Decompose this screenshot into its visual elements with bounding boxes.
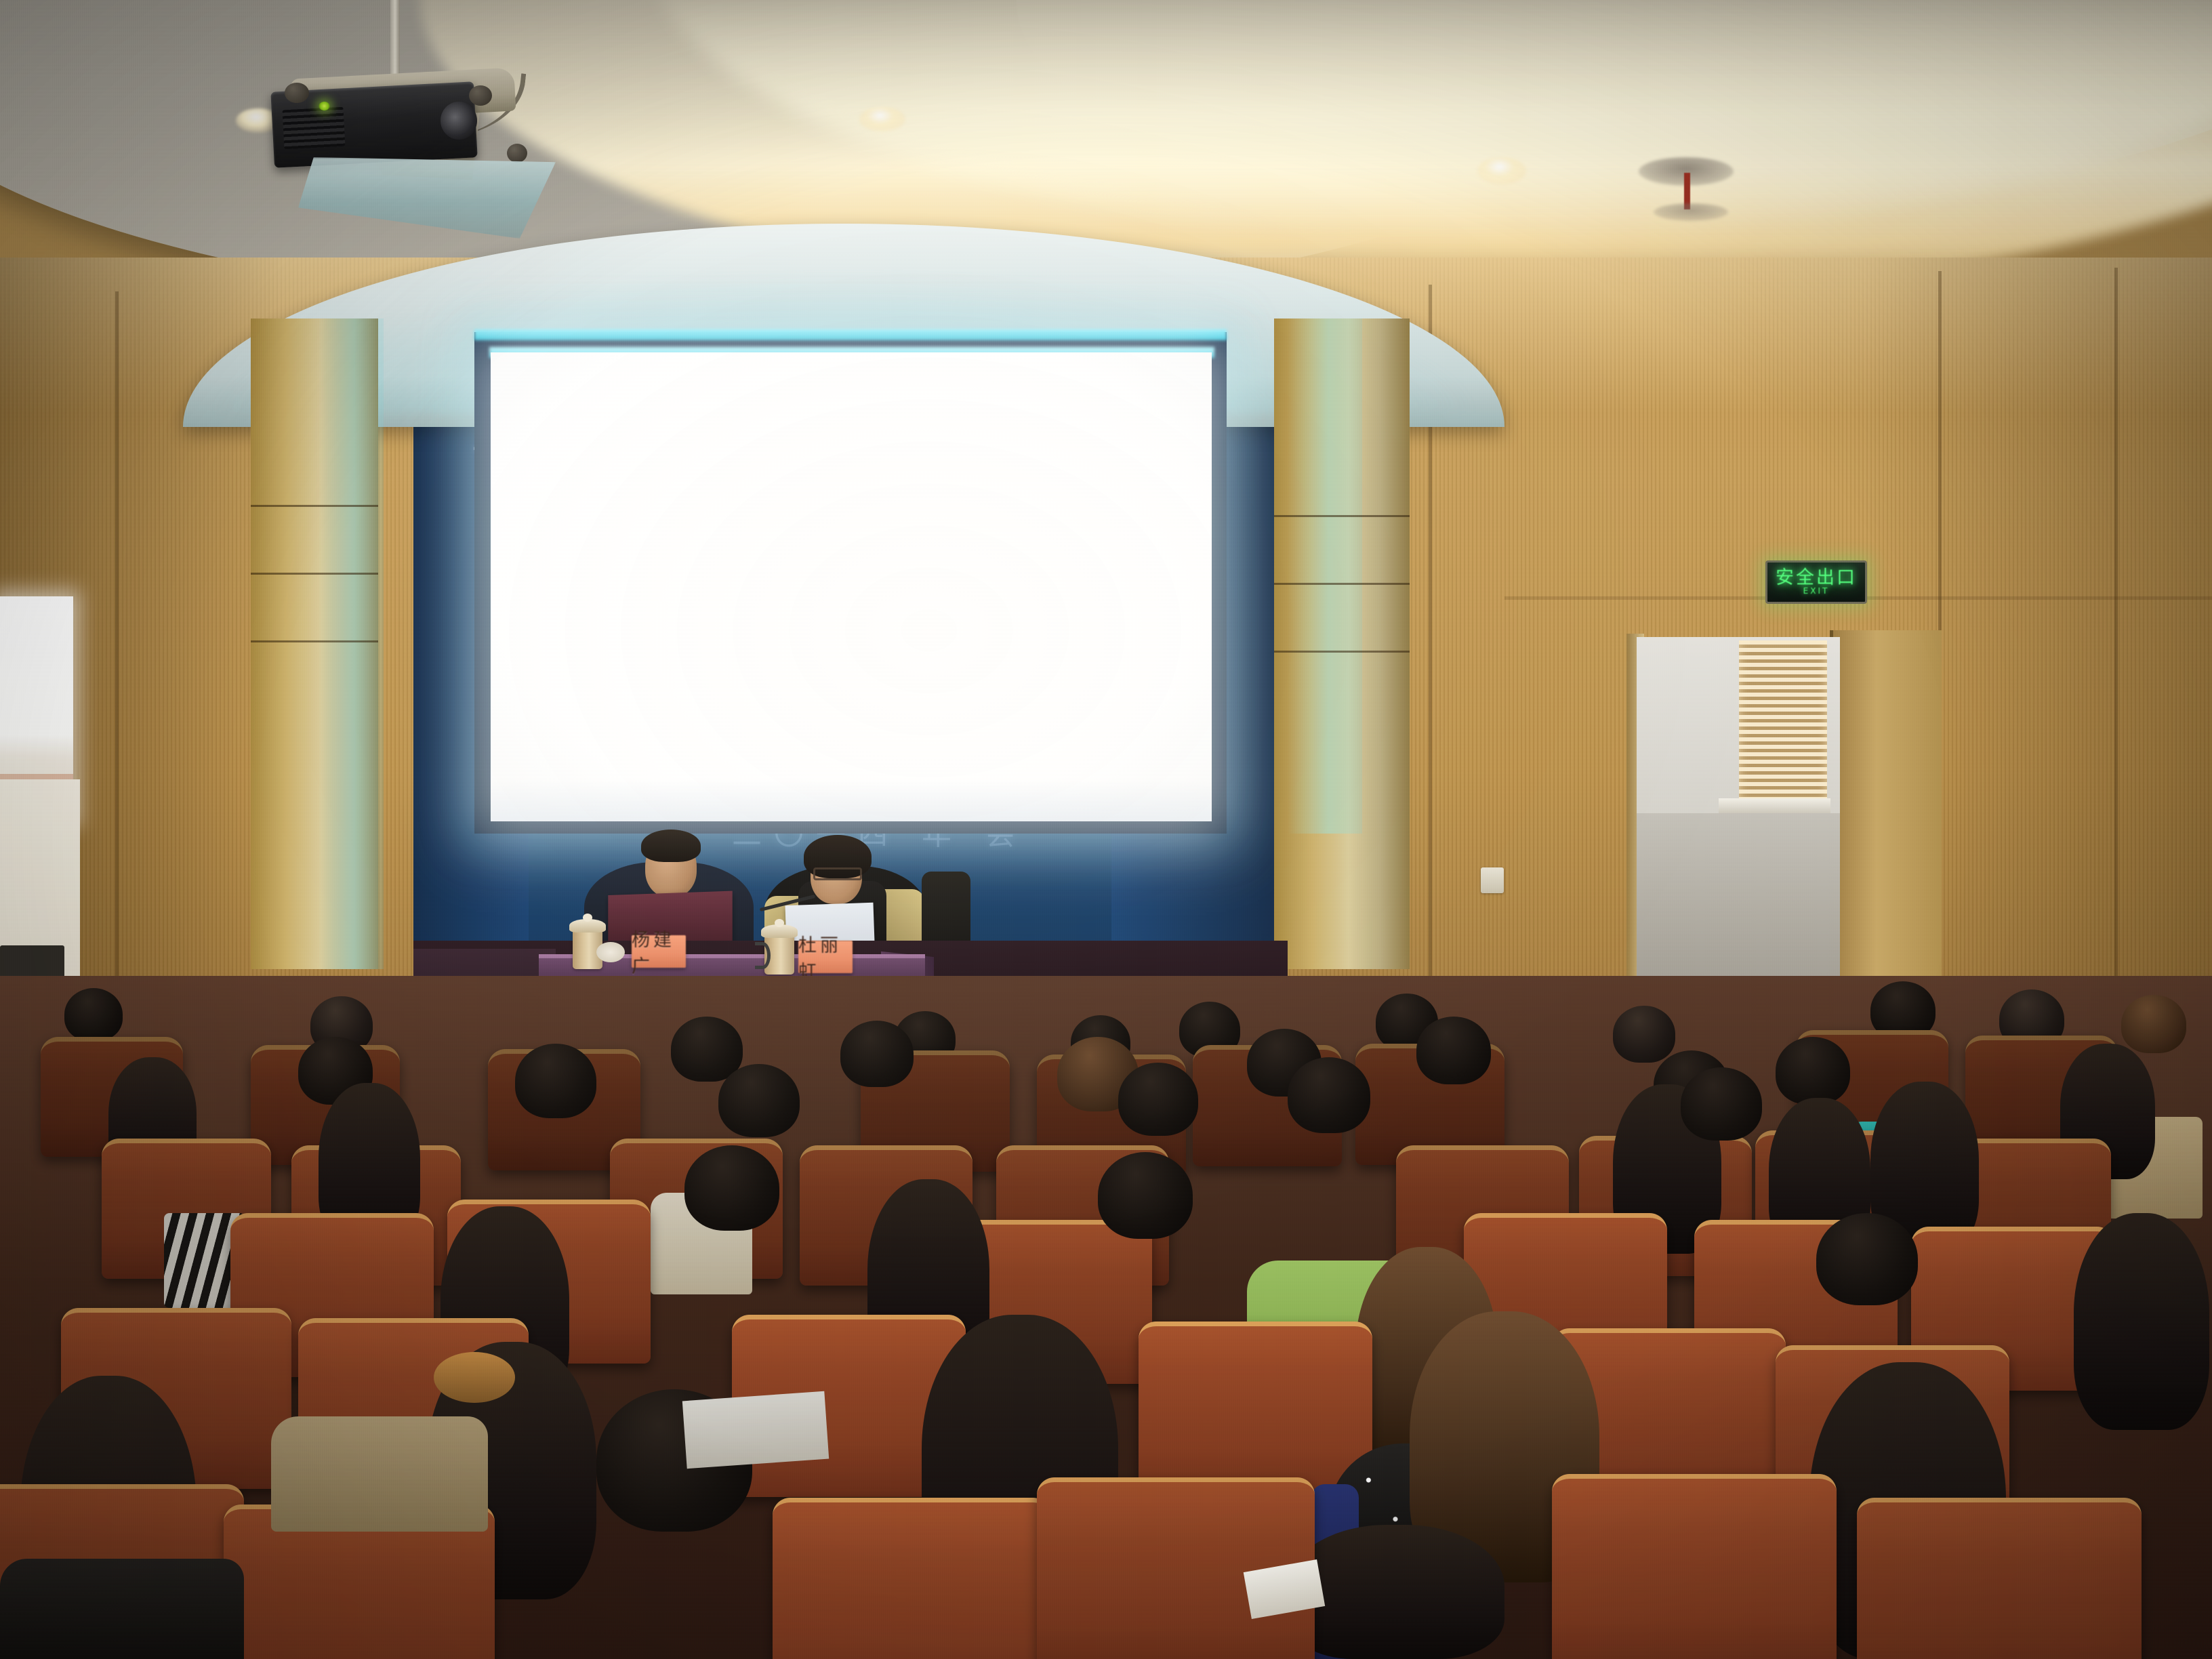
- audience-head: [64, 988, 123, 1041]
- screen-bottom-shading: [491, 779, 1212, 821]
- audience-head: [1613, 1006, 1675, 1063]
- audience-tan-garment: [271, 1416, 488, 1532]
- projector-knob-icon: [285, 83, 309, 103]
- auditorium-photo: 安全出口 EXIT 上 二〇一四 年 会: [0, 0, 2212, 1659]
- projector-power-led-icon: [319, 102, 330, 110]
- audience-head: [718, 1064, 800, 1137]
- wall-switch-plate[interactable]: [1481, 867, 1504, 893]
- exit-sign: 安全出口 EXIT: [1765, 560, 1867, 604]
- tissue-item: [596, 942, 625, 962]
- tea-mug-right-knob: [775, 919, 784, 927]
- audience-head: [684, 1145, 779, 1231]
- column-groove: [251, 640, 378, 642]
- sprinkler-shadow-icon: [1654, 203, 1728, 221]
- audience-head: [1118, 1063, 1198, 1136]
- audience-head: [1098, 1152, 1193, 1239]
- column-right-teal-glow: [1288, 319, 1362, 834]
- audience-head: [1288, 1057, 1370, 1133]
- screen-top-glow: [474, 329, 1227, 340]
- audience-head: [515, 1044, 596, 1118]
- audience-head: [1416, 1017, 1491, 1084]
- column-groove: [251, 505, 378, 507]
- projection-screen-surface: [491, 352, 1212, 821]
- column-groove: [1274, 583, 1410, 585]
- audience-head: [2121, 995, 2186, 1053]
- audience-head: [840, 1021, 914, 1087]
- downlight-icon: [1477, 157, 1526, 184]
- exit-sign-chinese-label: 安全出口: [1776, 569, 1857, 587]
- projector-vent-icon: [283, 107, 346, 150]
- audience-head: [2074, 1213, 2209, 1430]
- auditorium-seat[interactable]: [773, 1498, 1050, 1659]
- auditorium-seat[interactable]: [1857, 1498, 2142, 1659]
- window-with-blinds: [1739, 640, 1827, 803]
- wall-panel-seam: [2114, 268, 2118, 986]
- projector-knob-icon: [469, 85, 492, 106]
- wall-panel-seam: [115, 291, 119, 989]
- name-placard-right: 杜丽虹: [798, 941, 853, 973]
- column-groove: [1274, 651, 1410, 653]
- audience-head: [671, 1017, 743, 1082]
- column-left-teal-glow: [319, 319, 384, 969]
- window-sill: [1719, 798, 1830, 813]
- handout-paper: [682, 1391, 829, 1469]
- projector-pole: [390, 0, 400, 81]
- tea-mug-right-handle: [755, 942, 771, 969]
- exit-sign-english-label: EXIT: [1803, 587, 1830, 596]
- auditorium-seat[interactable]: [1139, 1322, 1372, 1504]
- projector-knob-icon: [507, 144, 527, 163]
- audience-head: [1816, 1213, 1918, 1305]
- audience-head: [1681, 1067, 1762, 1141]
- audience-dark-garment: [0, 1559, 244, 1659]
- column-groove: [251, 573, 378, 575]
- tea-mug-left-knob: [583, 914, 592, 922]
- glasses-icon: [813, 867, 862, 880]
- downlight-icon: [859, 107, 905, 131]
- speaker-left-hair: [641, 829, 701, 862]
- audience-head: [1776, 1037, 1850, 1105]
- column-groove: [1274, 515, 1410, 517]
- name-placard-left: 杨建广: [632, 935, 686, 968]
- auditorium-seat[interactable]: [1552, 1474, 1837, 1659]
- hair-scrunchie: [434, 1352, 515, 1403]
